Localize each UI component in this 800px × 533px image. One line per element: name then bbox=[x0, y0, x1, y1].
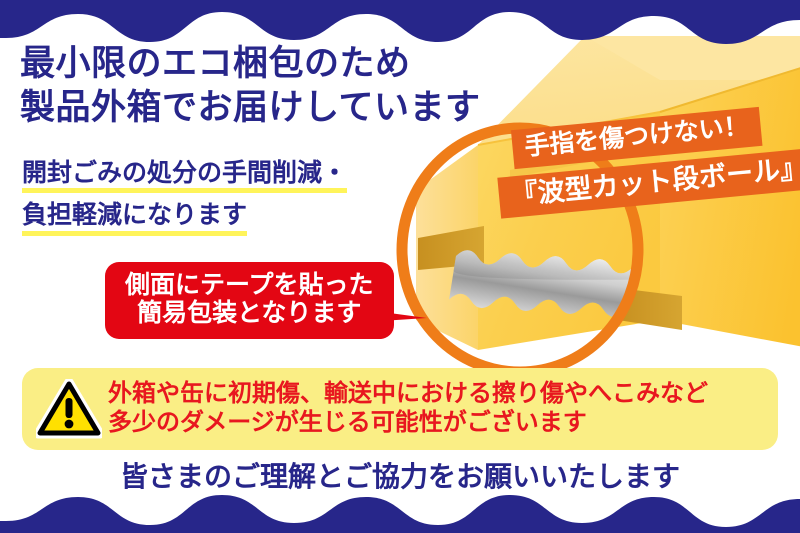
promo-banner: 最小限のエコ梱包のため 製品外箱でお届けしています 開封ごみの処分の手間削減・ … bbox=[0, 0, 800, 533]
headline-line-2: 製品外箱でお届けしています bbox=[20, 86, 480, 130]
red-callout-line-2: 簡易包装となります bbox=[125, 299, 374, 327]
closing-text: 皆さまのご理解とご協力をお願いいたします bbox=[120, 461, 680, 492]
warning-line-1: 外箱や缶に初期傷、輸送中における擦り傷やへこみなど bbox=[108, 380, 778, 409]
page-title: 最小限のエコ梱包のため 製品外箱でお届けしています bbox=[20, 42, 480, 130]
red-callout-line-1: 側面にテープを貼った bbox=[125, 271, 374, 299]
subcopy-line-2: 負担軽減になります bbox=[22, 202, 247, 235]
warning-triangle-icon bbox=[36, 379, 102, 439]
warning-text: 外箱や缶に初期傷、輸送中における擦り傷やへこみなど 多少のダメージが生じる可能性… bbox=[106, 380, 778, 438]
closing-message: 皆さまのご理解とご協力をお願いいたします bbox=[0, 455, 800, 495]
red-callout: 側面にテープを貼った 簡易包装となります bbox=[105, 262, 394, 339]
subcopy: 開封ごみの処分の手間削減・ 負担軽減になります bbox=[22, 160, 347, 245]
headline-line-1: 最小限のエコ梱包のため bbox=[20, 42, 480, 86]
warning-notice: 外箱や缶に初期傷、輸送中における擦り傷やへこみなど 多少のダメージが生じる可能性… bbox=[22, 368, 778, 450]
subcopy-line-1: 開封ごみの処分の手間削減・ bbox=[22, 160, 347, 193]
warning-line-2: 多少のダメージが生じる可能性がございます bbox=[108, 409, 778, 438]
red-callout-body: 側面にテープを貼った 簡易包装となります bbox=[105, 262, 394, 339]
